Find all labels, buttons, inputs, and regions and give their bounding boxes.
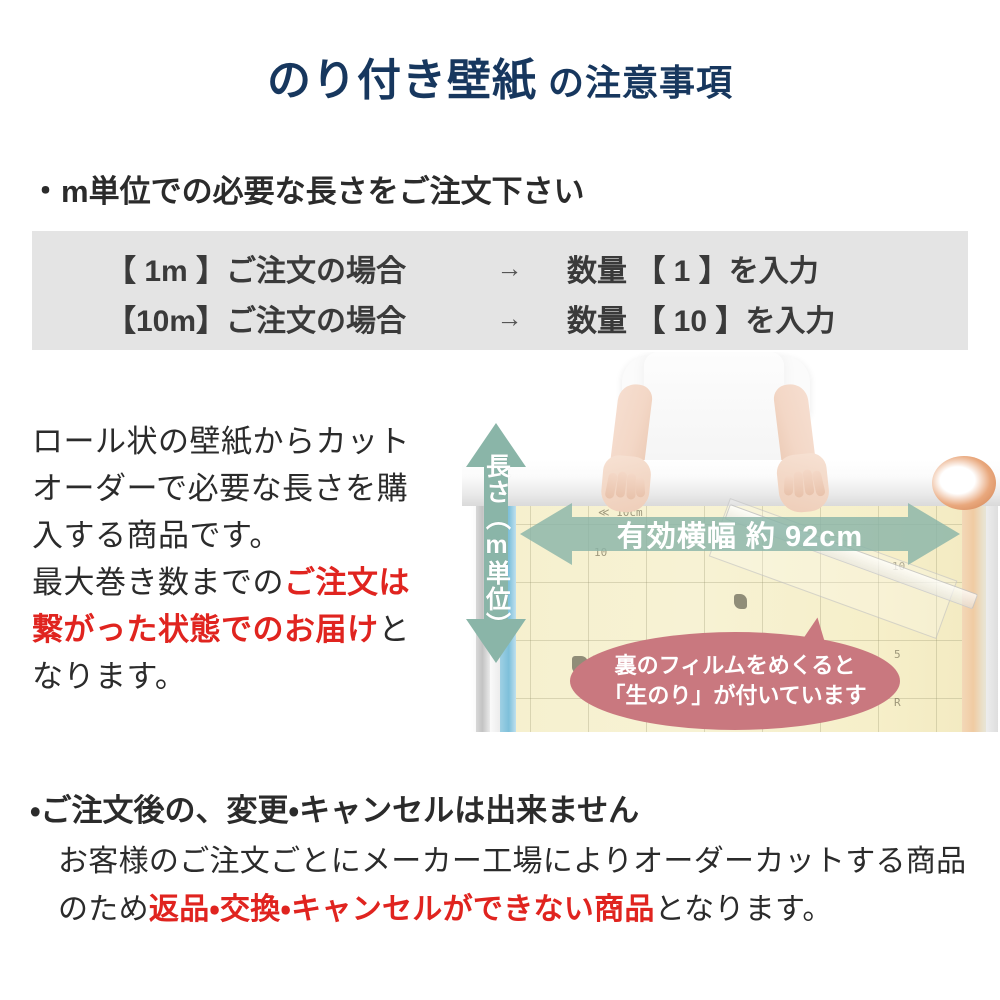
order-example-left: 【 1m 】ご注文の場合 xyxy=(32,246,452,290)
desc-line-1: ロール状の壁紙からカット xyxy=(32,424,410,459)
page-title: のり付き壁紙 の注意事項 xyxy=(0,44,1000,108)
order-example-right: 数量 【 10 】を入力 xyxy=(567,296,968,340)
cancel-policy-bullet: ・ご注文後の、変更・キャンセルは出来ません xyxy=(30,785,639,830)
page-title-sub: の注意事項 xyxy=(537,62,733,103)
glue-callout-bubble: 裏のフィルムをめくると 「生のり」が付いています xyxy=(570,618,900,730)
arrow-right-icon: → xyxy=(452,253,567,284)
desc-line-3: 入する商品です。 xyxy=(32,518,281,553)
order-example-row: 【 1m 】ご注文の場合 → 数量 【 1 】を入力 xyxy=(32,245,968,291)
desc-line-2: オーダーで必要な長さを購 xyxy=(32,471,408,506)
cancel-body-a: お客様のご注文ごとにメーカー工場によりオーダーカットす xyxy=(58,845,876,878)
desc-line-4-plain: 最大巻き数までの xyxy=(32,565,284,600)
arrow-right-icon: → xyxy=(452,303,567,334)
order-example-right: 数量 【 1 】を入力 xyxy=(567,246,968,290)
roll-edge-right-outer xyxy=(986,498,998,732)
notice-page: のり付き壁紙 の注意事項 ・m単位での必要な長さをご注文下さい 【 1m 】ご注… xyxy=(0,0,1000,1000)
sheet-logo-icon xyxy=(734,594,747,609)
bubble-line-2: 「生のり」が付いています xyxy=(603,681,866,711)
cancel-body-c: となりま xyxy=(655,893,775,926)
order-unit-bullet: ・m単位での必要な長さをご注文下さい xyxy=(30,166,585,211)
desc-line-5-plain: と xyxy=(379,612,411,647)
bubble-text: 裏のフィルムをめくると 「生のり」が付いています xyxy=(570,632,900,730)
product-description: ロール状の壁紙からカット オーダーで必要な長さを購 入する商品です。 最大巻き数… xyxy=(32,418,462,700)
cancel-body-emphasis: 返品・交換・キャンセルができない商品 xyxy=(149,893,655,926)
order-example-row: 【10m】ご注文の場合 → 数量 【 10 】を入力 xyxy=(32,295,968,341)
length-arrow xyxy=(466,423,526,663)
order-example-box: 【 1m 】ご注文の場合 → 数量 【 1 】を入力 【10m】ご注文の場合 →… xyxy=(32,231,968,350)
person-torso xyxy=(644,352,784,472)
desc-line-6: なります。 xyxy=(32,659,186,694)
desc-line-4-emphasis: ご注文は xyxy=(284,565,410,600)
order-example-left: 【10m】ご注文の場合 xyxy=(32,296,452,340)
bubble-line-1: 裏のフィルムをめくると xyxy=(615,651,856,681)
desc-line-5-emphasis: 繋がった状態でのお届け xyxy=(32,612,379,647)
page-title-main: のり付き壁紙 xyxy=(267,56,537,105)
width-arrow xyxy=(520,497,960,571)
cancel-body-d: す。 xyxy=(775,893,833,926)
cancel-policy-body: お客様のご注文ごとにメーカー工場によりオーダーカットする商品のため返品・交換・キ… xyxy=(58,838,978,934)
